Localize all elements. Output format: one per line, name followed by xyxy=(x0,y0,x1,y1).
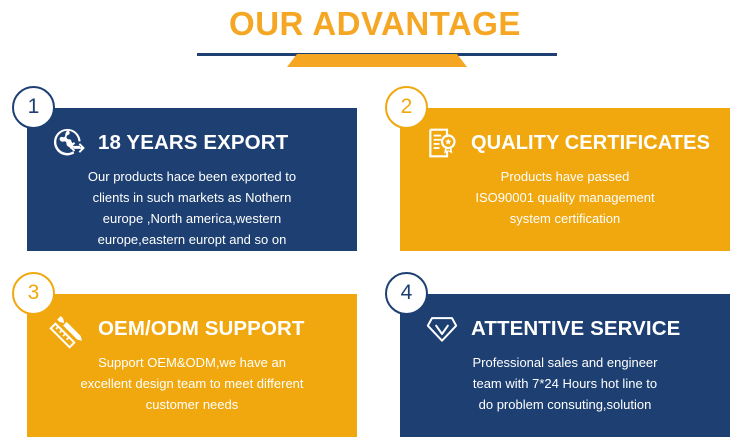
card-3-title: OEM/ODM SUPPORT xyxy=(98,317,305,341)
card-4-line-1: Professional sales and engineer xyxy=(414,352,716,373)
pencil-ruler-icon xyxy=(49,309,89,349)
card-1-line-3: europe ,North america,western xyxy=(41,208,343,229)
card-2-line-2: ISO90001 quality management xyxy=(414,187,716,208)
globe-exchange-icon xyxy=(49,123,89,163)
card-3-line-3: customer needs xyxy=(41,394,343,415)
card-4-panel: ATTENTIVE SERVICE Professional sales and… xyxy=(400,294,730,437)
card-1-title: 18 YEARS EXPORT xyxy=(98,131,288,155)
card-2-header: QUALITY CERTIFICATES xyxy=(400,122,730,164)
card-2-body: Products have passed ISO90001 quality ma… xyxy=(414,166,716,229)
card-1-body: Our products hace been exported to clien… xyxy=(41,166,343,250)
card-1-number-badge: 1 xyxy=(12,86,55,129)
card-2-number-badge: 2 xyxy=(385,86,428,129)
card-4-header: ATTENTIVE SERVICE xyxy=(400,308,730,350)
card-3-number: 3 xyxy=(28,282,40,303)
divider-trapezoid xyxy=(287,54,467,67)
advantage-section: OUR ADVANTAGE 18 YEA xyxy=(0,0,750,445)
card-4-title: ATTENTIVE SERVICE xyxy=(471,317,680,341)
card-1-line-1: Our products hace been exported to xyxy=(41,166,343,187)
card-2-line-1: Products have passed xyxy=(414,166,716,187)
advantage-card-3[interactable]: OEM/ODM SUPPORT Support OEM&ODM,we have … xyxy=(27,272,357,437)
page-title: OUR ADVANTAGE xyxy=(0,4,750,44)
card-4-number-badge: 4 xyxy=(385,272,428,315)
card-2-line-3: system certification xyxy=(414,208,716,229)
card-2-panel: QUALITY CERTIFICATES Products have passe… xyxy=(400,108,730,251)
card-4-line-3: do problem consuting,solution xyxy=(414,394,716,415)
card-3-panel: OEM/ODM SUPPORT Support OEM&ODM,we have … xyxy=(27,294,357,437)
card-1-line-4: europe,eastern europt and so on xyxy=(41,229,343,250)
card-4-line-2: team with 7*24 Hours hot line to xyxy=(414,373,716,394)
certificate-award-icon xyxy=(422,123,462,163)
shield-check-icon xyxy=(422,309,462,349)
card-3-line-1: Support OEM&ODM,we have an xyxy=(41,352,343,373)
card-4-body: Professional sales and engineer team wit… xyxy=(414,352,716,415)
card-2-title: QUALITY CERTIFICATES xyxy=(471,131,710,155)
card-4-number: 4 xyxy=(401,282,413,303)
card-2-number: 2 xyxy=(401,96,413,117)
advantage-card-4[interactable]: ATTENTIVE SERVICE Professional sales and… xyxy=(400,272,730,437)
card-1-line-2: clients in such markets as Nothern xyxy=(41,187,343,208)
section-header: OUR ADVANTAGE xyxy=(0,0,750,78)
card-1-number: 1 xyxy=(28,96,40,117)
card-3-number-badge: 3 xyxy=(12,272,55,315)
card-3-header: OEM/ODM SUPPORT xyxy=(27,308,357,350)
card-3-line-2: excellent design team to meet different xyxy=(41,373,343,394)
advantage-card-2[interactable]: QUALITY CERTIFICATES Products have passe… xyxy=(400,86,730,251)
card-1-panel: 18 YEARS EXPORT Our products hace been e… xyxy=(27,108,357,251)
title-divider xyxy=(197,53,557,73)
advantage-card-1[interactable]: 18 YEARS EXPORT Our products hace been e… xyxy=(27,86,357,251)
card-3-body: Support OEM&ODM,we have an excellent des… xyxy=(41,352,343,415)
card-1-header: 18 YEARS EXPORT xyxy=(27,122,357,164)
